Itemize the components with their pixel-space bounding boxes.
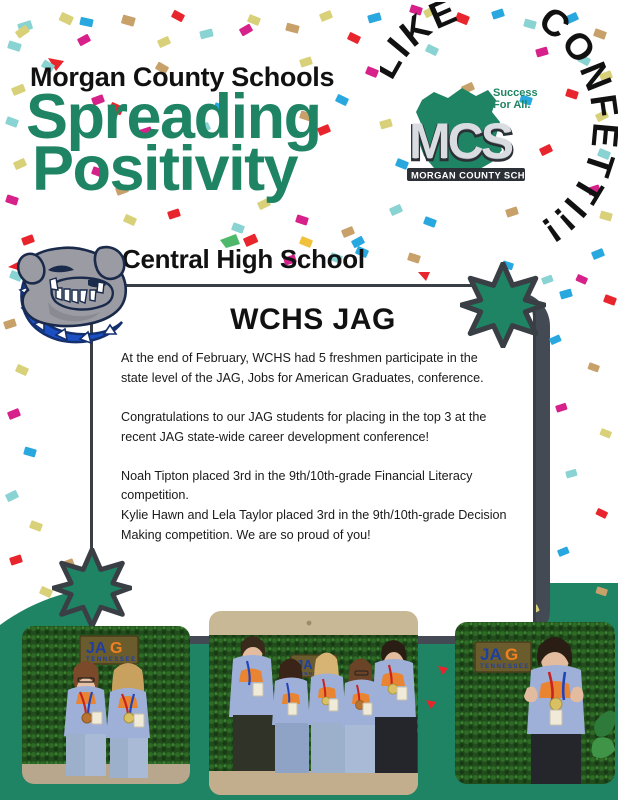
poster-canvas: Morgan County Schools Spreading Positivi… (0, 0, 618, 800)
school-name: Central High School (122, 244, 365, 275)
svg-text:TENNESSEE: TENNESSEE (480, 664, 530, 670)
svg-text:G: G (505, 645, 518, 664)
arc-confetti-text: CONFETTI!! (532, 2, 618, 252)
jag-sign: JA G TENNESSEE (475, 642, 531, 672)
headline-line-2: Positivity (32, 144, 321, 196)
headline: Spreading Positivity (26, 92, 321, 195)
mcs-tagline: Success For All. (493, 88, 538, 111)
article-body: At the end of February, WCHS had 5 fresh… (121, 349, 507, 545)
collar-tag (8, 262, 18, 270)
photo-five-students: JA G TENNESSEE (209, 611, 418, 795)
svg-text:TENNESSEE: TENNESSEE (86, 657, 137, 663)
svg-text:JA: JA (480, 645, 502, 664)
green-star-top-right-icon (460, 262, 546, 348)
arc-like-text: LIKE (380, 2, 465, 85)
mcs-tagline-line-2: For All. (493, 100, 538, 112)
photo-1-illustration: JA G TENNESSEE (22, 626, 190, 784)
photo-two-students: JA G TENNESSEE (22, 626, 190, 784)
svg-text:JA: JA (86, 640, 107, 657)
mcs-tagline-line-1: Success (493, 88, 538, 100)
bulldog-mascot-icon (4, 232, 140, 348)
photo-2-illustration: JA G TENNESSEE (209, 611, 418, 795)
student-2 (106, 663, 150, 778)
svg-text:G: G (110, 640, 122, 657)
green-star-bottom-left-icon (52, 548, 132, 628)
like-confetti-arc-text: LIKE CONFETTI!! (380, 2, 618, 262)
photo-one-student: JA G TENNESSEE (455, 622, 615, 784)
jag-sign: JA G TENNESSEE (80, 636, 138, 664)
bulldog-ear-left (18, 254, 44, 284)
bulldog-ear-right (95, 247, 124, 279)
photo-3-illustration: JA G TENNESSEE (455, 622, 615, 784)
